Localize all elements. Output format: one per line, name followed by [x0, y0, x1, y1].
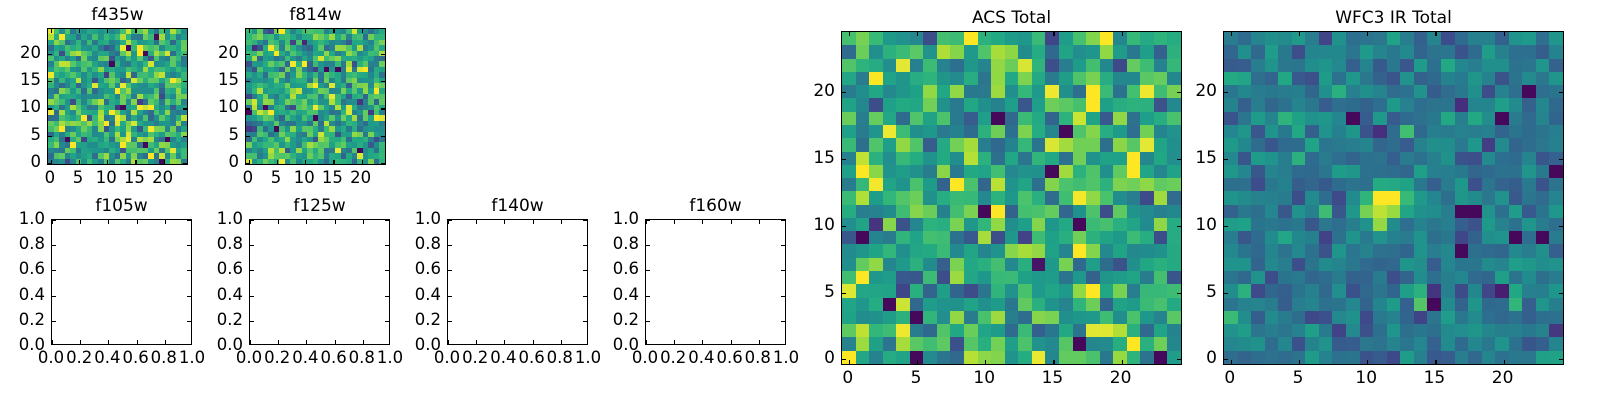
panel-f140w[interactable]: f140w 0.00.20.40.60.81.00.00.20.40.60.81… — [447, 219, 588, 345]
panel-title-f105w: f105w — [51, 196, 192, 216]
panel-title-f435w: f435w — [47, 5, 188, 25]
y-tick-right — [381, 54, 385, 55]
y-tick-label: 0.8 — [415, 235, 441, 253]
y-tick — [250, 270, 254, 271]
panel-wfc3-ir-total[interactable]: WFC3 IR Total 0510152005101520 — [1223, 31, 1564, 365]
y-tick — [448, 321, 452, 322]
x-tick-label: 0 — [1224, 369, 1235, 387]
panel-title-f140w: f140w — [447, 196, 588, 216]
x-tick — [448, 340, 449, 344]
y-tick-right — [187, 270, 191, 271]
axes-acs-total[interactable] — [841, 31, 1182, 365]
x-tick — [504, 340, 505, 344]
x-tick — [849, 360, 850, 364]
x-tick-label: 15 — [1042, 369, 1064, 387]
x-tick-label: 1.0 — [179, 349, 205, 367]
y-tick-right — [183, 81, 187, 82]
x-tick-top — [164, 29, 165, 33]
x-tick-label: 5 — [911, 369, 922, 387]
x-tick-top — [335, 220, 336, 224]
y-tick-label: 0.0 — [217, 336, 243, 354]
y-tick-label: 1.0 — [415, 210, 441, 228]
x-tick-top — [108, 220, 109, 224]
x-tick-label: 0.6 — [716, 349, 742, 367]
y-tick — [250, 245, 254, 246]
y-tick-right — [781, 321, 785, 322]
y-tick-right — [1559, 92, 1563, 93]
x-tick-top — [306, 220, 307, 224]
x-tick — [278, 340, 279, 344]
x-tick-label: 1.0 — [575, 349, 601, 367]
y-tick — [250, 220, 254, 221]
y-tick-right — [183, 54, 187, 55]
y-tick-label: 5 — [31, 126, 42, 144]
x-tick-label: 0.4 — [94, 349, 120, 367]
x-tick-top — [533, 220, 534, 224]
x-tick — [277, 160, 278, 164]
y-tick-label: 0.4 — [217, 286, 243, 304]
y-tick — [48, 54, 52, 55]
y-tick-right — [183, 163, 187, 164]
x-tick-top — [917, 32, 918, 36]
y-tick-label: 0.4 — [415, 286, 441, 304]
x-tick-label: 0.6 — [320, 349, 346, 367]
x-tick-label: 10 — [294, 169, 315, 187]
x-tick-label: 0.2 — [462, 349, 488, 367]
x-tick — [646, 340, 647, 344]
y-tick-label: 0 — [824, 349, 835, 367]
y-tick — [246, 136, 250, 137]
y-tick-label: 0.6 — [19, 260, 45, 278]
x-tick — [1122, 360, 1123, 364]
x-tick-top — [561, 220, 562, 224]
x-tick-label: 0 — [842, 369, 853, 387]
y-tick — [48, 136, 52, 137]
x-tick — [80, 340, 81, 344]
y-tick — [1224, 226, 1228, 227]
y-tick-label: 1.0 — [613, 210, 639, 228]
x-tick-label: 5 — [73, 169, 84, 187]
y-tick-label: 5 — [1206, 283, 1217, 301]
y-tick-right — [781, 245, 785, 246]
y-tick — [646, 245, 650, 246]
x-tick-label: 0.2 — [264, 349, 290, 367]
x-tick-label: 5 — [271, 169, 282, 187]
y-tick-label: 20 — [20, 44, 41, 62]
x-tick — [759, 340, 760, 344]
y-tick — [448, 270, 452, 271]
y-tick — [1224, 293, 1228, 294]
x-tick-top — [985, 32, 986, 36]
y-tick — [250, 296, 254, 297]
x-tick-top — [1367, 32, 1368, 36]
x-tick — [333, 160, 334, 164]
x-tick — [362, 160, 363, 164]
y-tick — [842, 226, 846, 227]
x-tick-top — [249, 29, 250, 33]
x-tick — [702, 340, 703, 344]
y-tick — [448, 296, 452, 297]
x-tick-label: 10 — [1355, 369, 1377, 387]
x-tick-top — [51, 29, 52, 33]
y-tick-label: 0.2 — [613, 311, 639, 329]
y-tick — [448, 245, 452, 246]
y-tick — [1224, 359, 1228, 360]
y-tick-right — [583, 296, 587, 297]
x-tick — [1299, 360, 1300, 364]
x-tick-top — [278, 220, 279, 224]
y-tick-right — [381, 81, 385, 82]
y-tick-label: 0.8 — [19, 235, 45, 253]
y-tick-right — [1177, 226, 1181, 227]
x-tick-top — [1122, 32, 1123, 36]
y-tick-right — [1177, 293, 1181, 294]
x-tick-label: 15 — [322, 169, 343, 187]
y-tick — [48, 81, 52, 82]
x-tick-top — [1435, 32, 1436, 36]
y-tick-right — [781, 270, 785, 271]
x-tick-label: 15 — [1424, 369, 1446, 387]
y-tick-right — [1559, 159, 1563, 160]
y-tick-right — [385, 245, 389, 246]
x-tick-label: 0 — [45, 169, 56, 187]
x-tick — [561, 340, 562, 344]
x-tick-label: 0.4 — [490, 349, 516, 367]
x-tick-label: 0.8 — [349, 349, 375, 367]
panel-f814w[interactable]: f814w 0510152005101520 — [245, 28, 386, 165]
x-tick — [108, 340, 109, 344]
y-tick-label: 0.0 — [415, 336, 441, 354]
y-tick — [842, 359, 846, 360]
y-tick — [646, 270, 650, 271]
y-tick-right — [583, 245, 587, 246]
x-tick-label: 0.2 — [660, 349, 686, 367]
y-tick-label: 15 — [813, 149, 835, 167]
x-tick-top — [79, 29, 80, 33]
x-tick-top — [1299, 32, 1300, 36]
y-tick-label: 0.6 — [613, 260, 639, 278]
x-tick-label: 10 — [96, 169, 117, 187]
y-tick-right — [187, 220, 191, 221]
x-tick-label: 0.6 — [518, 349, 544, 367]
y-tick-right — [1559, 293, 1563, 294]
x-tick-label: 20 — [350, 169, 371, 187]
x-tick — [917, 360, 918, 364]
x-tick — [52, 340, 53, 344]
y-tick-right — [381, 108, 385, 109]
y-tick-label: 10 — [20, 98, 41, 116]
y-tick — [246, 54, 250, 55]
x-tick — [164, 160, 165, 164]
y-tick-right — [187, 296, 191, 297]
y-tick — [1224, 159, 1228, 160]
x-tick-label: 0.8 — [745, 349, 771, 367]
x-tick-top — [107, 29, 108, 33]
y-tick-label: 0.0 — [19, 336, 45, 354]
y-tick-label: 0 — [229, 153, 240, 171]
y-tick — [842, 293, 846, 294]
x-tick-label: 0.8 — [151, 349, 177, 367]
x-tick-top — [1504, 32, 1505, 36]
y-tick-label: 10 — [218, 98, 239, 116]
heatmap-acs-total — [842, 32, 1181, 364]
x-tick — [107, 160, 108, 164]
y-tick-label: 0.2 — [19, 311, 45, 329]
y-tick-label: 15 — [20, 71, 41, 89]
panel-acs-total[interactable]: ACS Total 0510152005101520 — [841, 31, 1182, 365]
y-tick-label: 0.6 — [415, 260, 441, 278]
x-tick — [985, 360, 986, 364]
heatmap-f435w — [48, 29, 187, 164]
heatmap-f814w — [246, 29, 385, 164]
y-tick-right — [381, 163, 385, 164]
y-tick-right — [385, 270, 389, 271]
panel-f160w[interactable]: f160w 0.00.20.40.60.81.00.00.20.40.60.81… — [645, 219, 786, 345]
x-tick-label: 0 — [243, 169, 254, 187]
x-tick-top — [759, 220, 760, 224]
y-tick-label: 0.2 — [415, 311, 441, 329]
x-tick — [1053, 360, 1054, 364]
x-tick-top — [476, 220, 477, 224]
panel-f435w[interactable]: f435w 0510152005101520 — [47, 28, 188, 165]
y-tick-label: 1.0 — [19, 210, 45, 228]
x-tick-label: 5 — [1293, 369, 1304, 387]
x-tick — [137, 340, 138, 344]
x-tick — [363, 340, 364, 344]
x-tick-top — [165, 220, 166, 224]
y-tick-label: 5 — [824, 283, 835, 301]
x-tick — [306, 340, 307, 344]
y-tick-label: 0 — [31, 153, 42, 171]
y-tick-right — [1177, 92, 1181, 93]
y-tick-label: 0.0 — [613, 336, 639, 354]
y-tick-right — [381, 136, 385, 137]
x-tick — [1231, 360, 1232, 364]
x-tick-top — [363, 220, 364, 224]
x-tick-top — [674, 220, 675, 224]
y-tick-label: 5 — [229, 126, 240, 144]
x-tick-label: 20 — [152, 169, 173, 187]
x-tick-label: 20 — [1492, 369, 1514, 387]
y-tick-right — [583, 270, 587, 271]
y-tick-label: 10 — [1195, 216, 1217, 234]
y-tick — [646, 296, 650, 297]
x-tick — [165, 340, 166, 344]
y-tick — [246, 108, 250, 109]
y-tick-right — [183, 136, 187, 137]
x-tick-top — [137, 220, 138, 224]
y-tick-right — [187, 321, 191, 322]
x-tick-top — [849, 32, 850, 36]
x-tick-top — [504, 220, 505, 224]
y-tick-label: 15 — [1195, 149, 1217, 167]
x-tick — [335, 340, 336, 344]
x-tick-label: 20 — [1110, 369, 1132, 387]
x-tick-top — [1053, 32, 1054, 36]
axes-wfc3-ir-total[interactable] — [1223, 31, 1564, 365]
panel-title-wfc3-ir-total: WFC3 IR Total — [1223, 8, 1564, 28]
panel-title-acs-total: ACS Total — [841, 8, 1182, 28]
x-tick-top — [362, 29, 363, 33]
y-tick — [52, 296, 56, 297]
x-tick-label: 1.0 — [773, 349, 799, 367]
axes-f125w[interactable] — [249, 219, 390, 345]
figure-canvas: f435w 0510152005101520 f814w 05101520051… — [0, 0, 1600, 400]
x-tick — [1367, 360, 1368, 364]
x-tick-top — [702, 220, 703, 224]
y-tick-label: 1.0 — [217, 210, 243, 228]
y-tick-right — [183, 108, 187, 109]
panel-f125w[interactable]: f125w 0.00.20.40.60.81.00.00.20.40.60.81… — [249, 219, 390, 345]
y-tick-right — [385, 220, 389, 221]
y-tick — [448, 220, 452, 221]
y-tick — [646, 220, 650, 221]
heatmap-wfc3-ir-total — [1224, 32, 1563, 364]
x-tick — [476, 340, 477, 344]
x-tick-top — [277, 29, 278, 33]
x-tick-top — [333, 29, 334, 33]
x-tick — [1435, 360, 1436, 364]
y-tick-right — [187, 245, 191, 246]
y-tick-right — [781, 296, 785, 297]
x-tick-top — [305, 29, 306, 33]
panel-title-f814w: f814w — [245, 5, 386, 25]
x-tick-label: 15 — [124, 169, 145, 187]
x-tick-label: 0.2 — [66, 349, 92, 367]
y-tick-right — [1177, 159, 1181, 160]
axes-f160w[interactable] — [645, 219, 786, 345]
y-tick — [842, 92, 846, 93]
y-tick-right — [781, 220, 785, 221]
y-tick — [52, 220, 56, 221]
axes-f140w[interactable] — [447, 219, 588, 345]
y-tick — [246, 81, 250, 82]
axes-f435w[interactable] — [47, 28, 188, 165]
y-tick-label: 0.2 — [217, 311, 243, 329]
y-tick — [646, 321, 650, 322]
y-tick-right — [583, 220, 587, 221]
y-tick — [52, 245, 56, 246]
y-tick-right — [1559, 226, 1563, 227]
y-tick — [48, 108, 52, 109]
x-tick-label: 0.8 — [547, 349, 573, 367]
y-tick — [1224, 92, 1228, 93]
y-tick-label: 0.4 — [613, 286, 639, 304]
y-tick — [52, 321, 56, 322]
y-tick-right — [1559, 359, 1563, 360]
x-tick-top — [1231, 32, 1232, 36]
y-tick — [48, 163, 52, 164]
axes-f814w[interactable] — [245, 28, 386, 165]
panel-f105w[interactable]: f105w 0.00.20.40.60.81.00.00.20.40.60.81… — [51, 219, 192, 345]
x-tick-top — [731, 220, 732, 224]
x-tick — [79, 160, 80, 164]
y-tick — [246, 163, 250, 164]
y-tick-label: 0.6 — [217, 260, 243, 278]
y-tick-right — [385, 296, 389, 297]
x-tick — [135, 160, 136, 164]
panel-title-f125w: f125w — [249, 196, 390, 216]
x-tick — [731, 340, 732, 344]
y-tick-label: 0.4 — [19, 286, 45, 304]
y-tick-right — [583, 321, 587, 322]
y-tick — [842, 159, 846, 160]
y-tick-label: 0 — [1206, 349, 1217, 367]
x-tick — [674, 340, 675, 344]
x-tick — [305, 160, 306, 164]
y-tick-label: 0.8 — [613, 235, 639, 253]
x-tick-label: 0.4 — [688, 349, 714, 367]
x-tick — [250, 340, 251, 344]
y-tick-label: 20 — [813, 82, 835, 100]
x-tick-label: 1.0 — [377, 349, 403, 367]
panel-title-f160w: f160w — [645, 196, 786, 216]
y-tick — [52, 270, 56, 271]
y-tick-right — [1177, 359, 1181, 360]
axes-f105w[interactable] — [51, 219, 192, 345]
y-tick-label: 15 — [218, 71, 239, 89]
x-tick-top — [80, 220, 81, 224]
y-tick-right — [385, 321, 389, 322]
x-tick-label: 0.4 — [292, 349, 318, 367]
y-tick-label: 0.8 — [217, 235, 243, 253]
y-tick — [250, 321, 254, 322]
y-tick-label: 10 — [813, 216, 835, 234]
x-tick — [533, 340, 534, 344]
x-tick — [1504, 360, 1505, 364]
x-tick-top — [135, 29, 136, 33]
y-tick-label: 20 — [218, 44, 239, 62]
x-tick-label: 0.6 — [122, 349, 148, 367]
x-tick-label: 10 — [973, 369, 995, 387]
y-tick-label: 20 — [1195, 82, 1217, 100]
